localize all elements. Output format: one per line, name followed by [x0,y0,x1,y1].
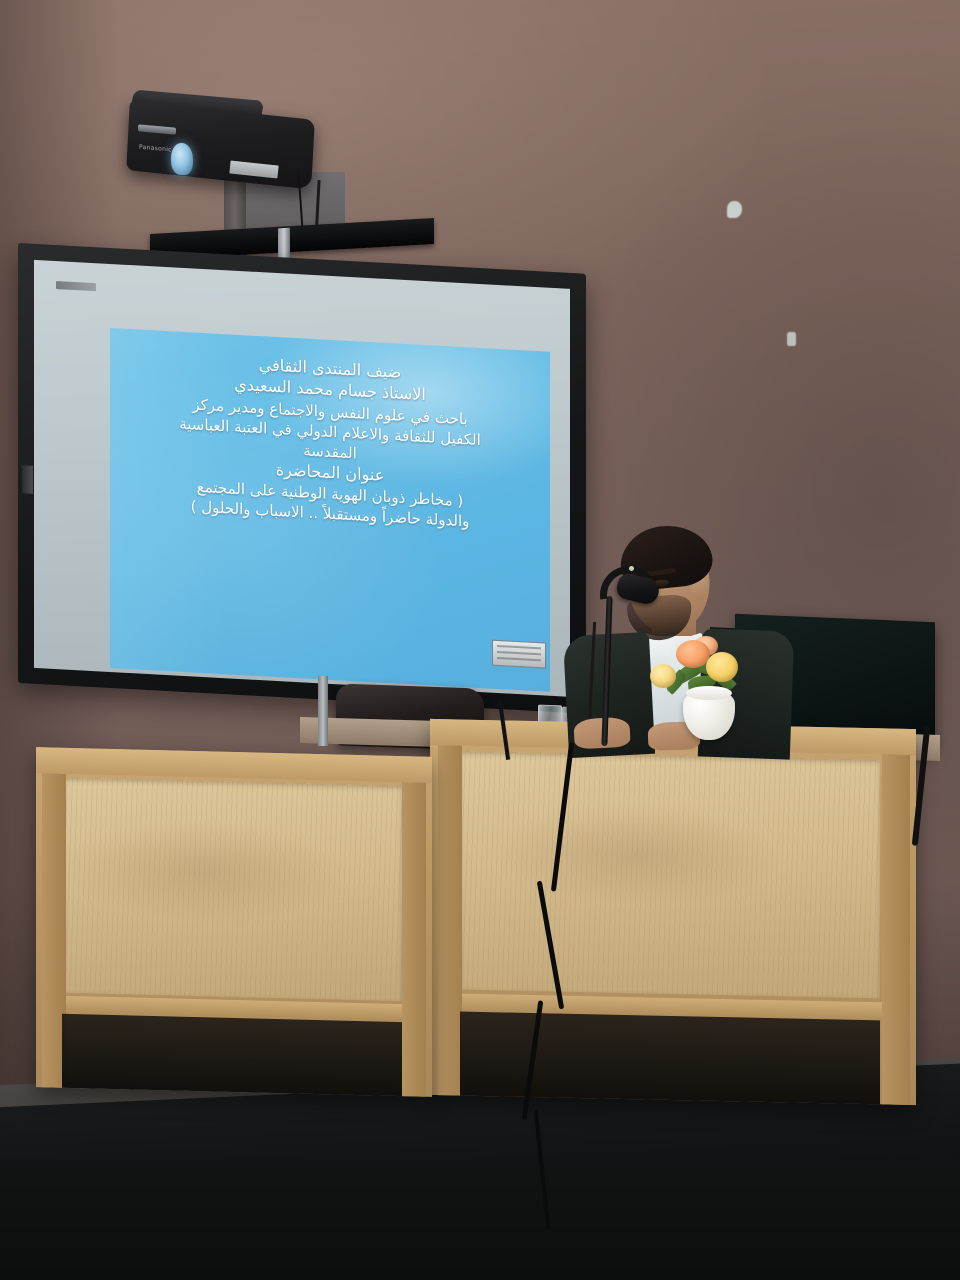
interactive-whiteboard[interactable]: ضيف المنتدى الثقافي الاستاذ جسام محمد ال… [18,243,586,714]
flower-bloom-orange [676,640,710,668]
stage-floor-foreground [0,1160,960,1280]
bench-leg-right [882,754,910,1105]
sensor-bar-bracket [278,228,290,259]
wooden-bench-left[interactable] [36,747,432,1097]
screen-stand-pole [318,676,328,746]
lecture-hall-photograph: Panasonic ضيف المنتدى الثقافي الاستاذ جس… [0,0,960,1280]
bench-back-panel [62,778,402,1001]
projector-lens [171,142,193,176]
whiteboard-equipment-label [492,640,546,669]
bench-under-shadow [460,1012,880,1105]
whiteboard-logo [56,281,96,291]
whiteboard-surface: ضيف المنتدى الثقافي الاستاذ جسام محمد ال… [34,260,570,697]
bench-leg-left [438,745,462,1096]
slide-text-block: ضيف المنتدى الثقافي الاستاذ جسام محمد ال… [110,346,550,536]
whiteboard-pen-clip[interactable] [22,465,33,494]
vase-rim [686,686,732,700]
bench-under-shadow [62,1014,402,1096]
wall-mark-upper [727,201,742,218]
speaker-person [560,500,800,760]
flower-bloom-yellow [706,652,738,682]
microphone-indicator-light [629,566,634,571]
bench-back-panel [460,752,880,999]
bench-leg-right [402,782,426,1097]
wooden-bench-right[interactable] [430,719,916,1105]
projected-slide: ضيف المنتدى الثقافي الاستاذ جسام محمد ال… [110,328,550,692]
flower-bloom-yellow-small [650,664,676,688]
wall-mark-lower [787,332,796,346]
